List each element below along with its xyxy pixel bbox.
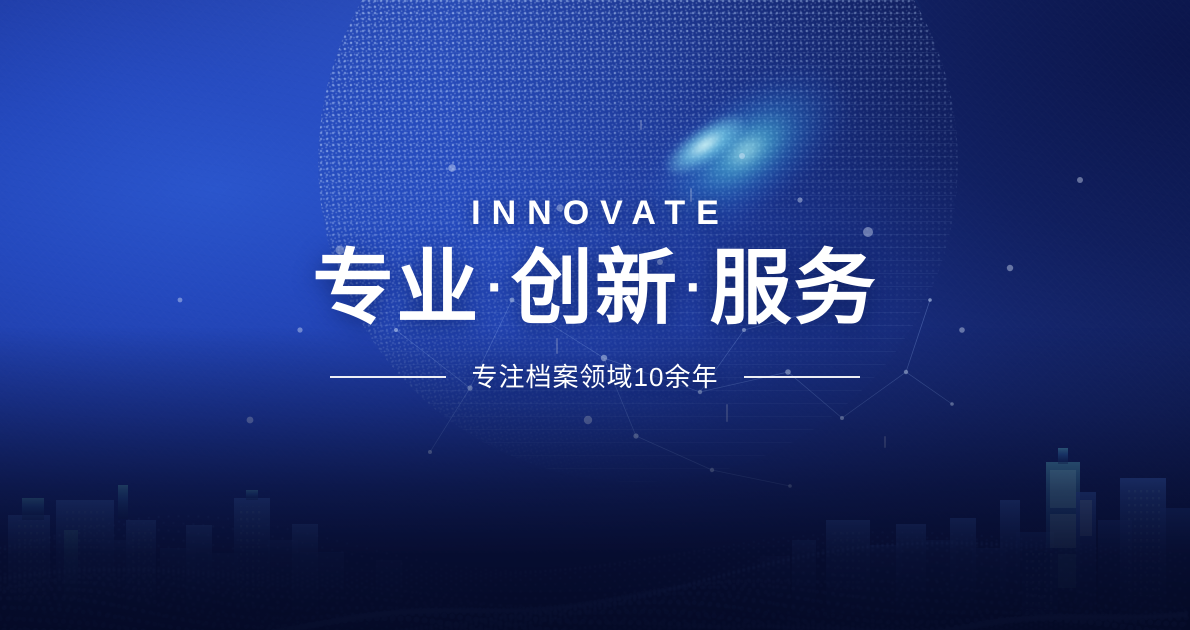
subtitle-row: 专注档案领域10余年 bbox=[0, 364, 1190, 390]
page-title: 专业·创新·服务 bbox=[0, 248, 1190, 330]
headline-separator-1: · bbox=[480, 255, 511, 318]
headline-word-3: 服务 bbox=[710, 243, 878, 334]
subtitle-text: 专注档案领域10余年 bbox=[472, 364, 719, 390]
subtitle-rule-left bbox=[330, 376, 446, 378]
eyebrow-text: INNOVATE bbox=[0, 196, 1190, 230]
subtitle-rule-right bbox=[744, 376, 860, 378]
headline-word-1: 专业 bbox=[312, 243, 480, 334]
headline-word-2: 创新 bbox=[511, 243, 679, 334]
headline-separator-2: · bbox=[679, 255, 710, 318]
hero-banner: INNOVATE 专业·创新·服务 专注档案领域10余年 bbox=[0, 0, 1190, 630]
